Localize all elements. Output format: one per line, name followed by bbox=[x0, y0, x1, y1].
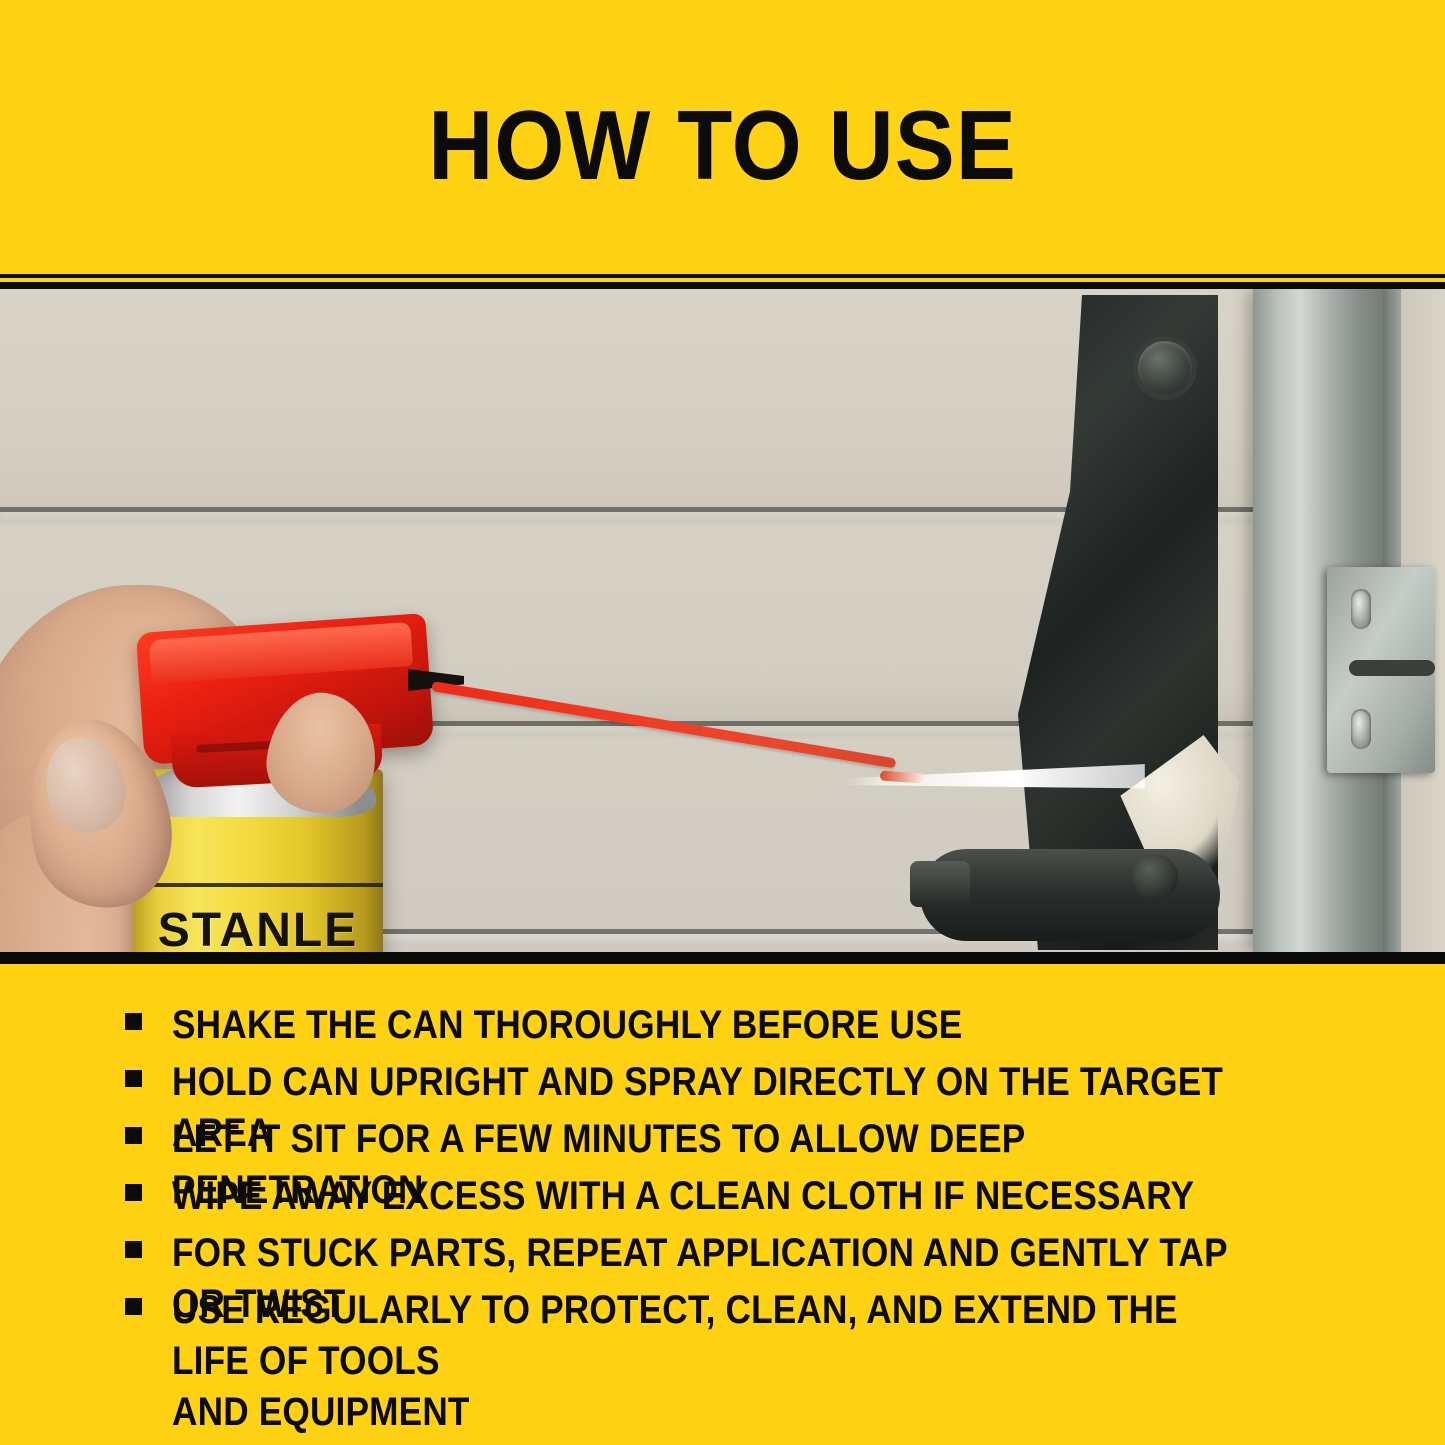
bullet-square-icon bbox=[125, 1298, 142, 1315]
can-label-rule-top bbox=[133, 883, 383, 887]
can-brand-label: STANLE bbox=[133, 903, 383, 952]
bracket-slot bbox=[1349, 660, 1435, 676]
instructions-list: SHAKE THE CAN THOROUGHLY BEFORE USE HOLD… bbox=[0, 964, 1445, 1445]
divider-rule-thick bbox=[0, 282, 1445, 289]
bracket-hole bbox=[1351, 709, 1371, 749]
track-mounting-bracket bbox=[1327, 567, 1435, 773]
list-item: WIPE AWAY EXCESS WITH A CLEAN CLOTH IF N… bbox=[125, 1171, 1405, 1222]
page-title: HOW TO USE bbox=[58, 96, 1387, 194]
roller-stub bbox=[910, 861, 970, 907]
list-item-label: USE REGULARLY TO PROTECT, CLEAN, AND EXT… bbox=[172, 1285, 1257, 1439]
hinge-bolt bbox=[1138, 341, 1192, 395]
hinge-bolt-lower bbox=[1132, 854, 1178, 900]
bullet-square-icon bbox=[125, 1184, 142, 1201]
product-photo: STANLE ALL IN ONE Multi Spray Stop squea… bbox=[0, 289, 1445, 952]
header-band: HOW TO USE bbox=[0, 0, 1445, 275]
door-panel-seam bbox=[0, 507, 1445, 512]
infographic-poster: HOW TO USE STANLE ALL IN ONE bbox=[0, 0, 1445, 1445]
bullet-square-icon bbox=[125, 1013, 142, 1030]
list-item: SHAKE THE CAN THOROUGHLY BEFORE USE bbox=[125, 1000, 1405, 1051]
bullet-square-icon bbox=[125, 1241, 142, 1258]
bullet-square-icon bbox=[125, 1070, 142, 1087]
list-item-label: SHAKE THE CAN THOROUGHLY BEFORE USE bbox=[172, 1000, 962, 1051]
list-item-label: WIPE AWAY EXCESS WITH A CLEAN CLOTH IF N… bbox=[172, 1171, 1194, 1222]
bracket-hole bbox=[1351, 589, 1371, 629]
bullet-square-icon bbox=[125, 1127, 142, 1144]
photo-bottom-rule bbox=[0, 952, 1445, 964]
list-item: USE REGULARLY TO PROTECT, CLEAN, AND EXT… bbox=[125, 1285, 1405, 1439]
